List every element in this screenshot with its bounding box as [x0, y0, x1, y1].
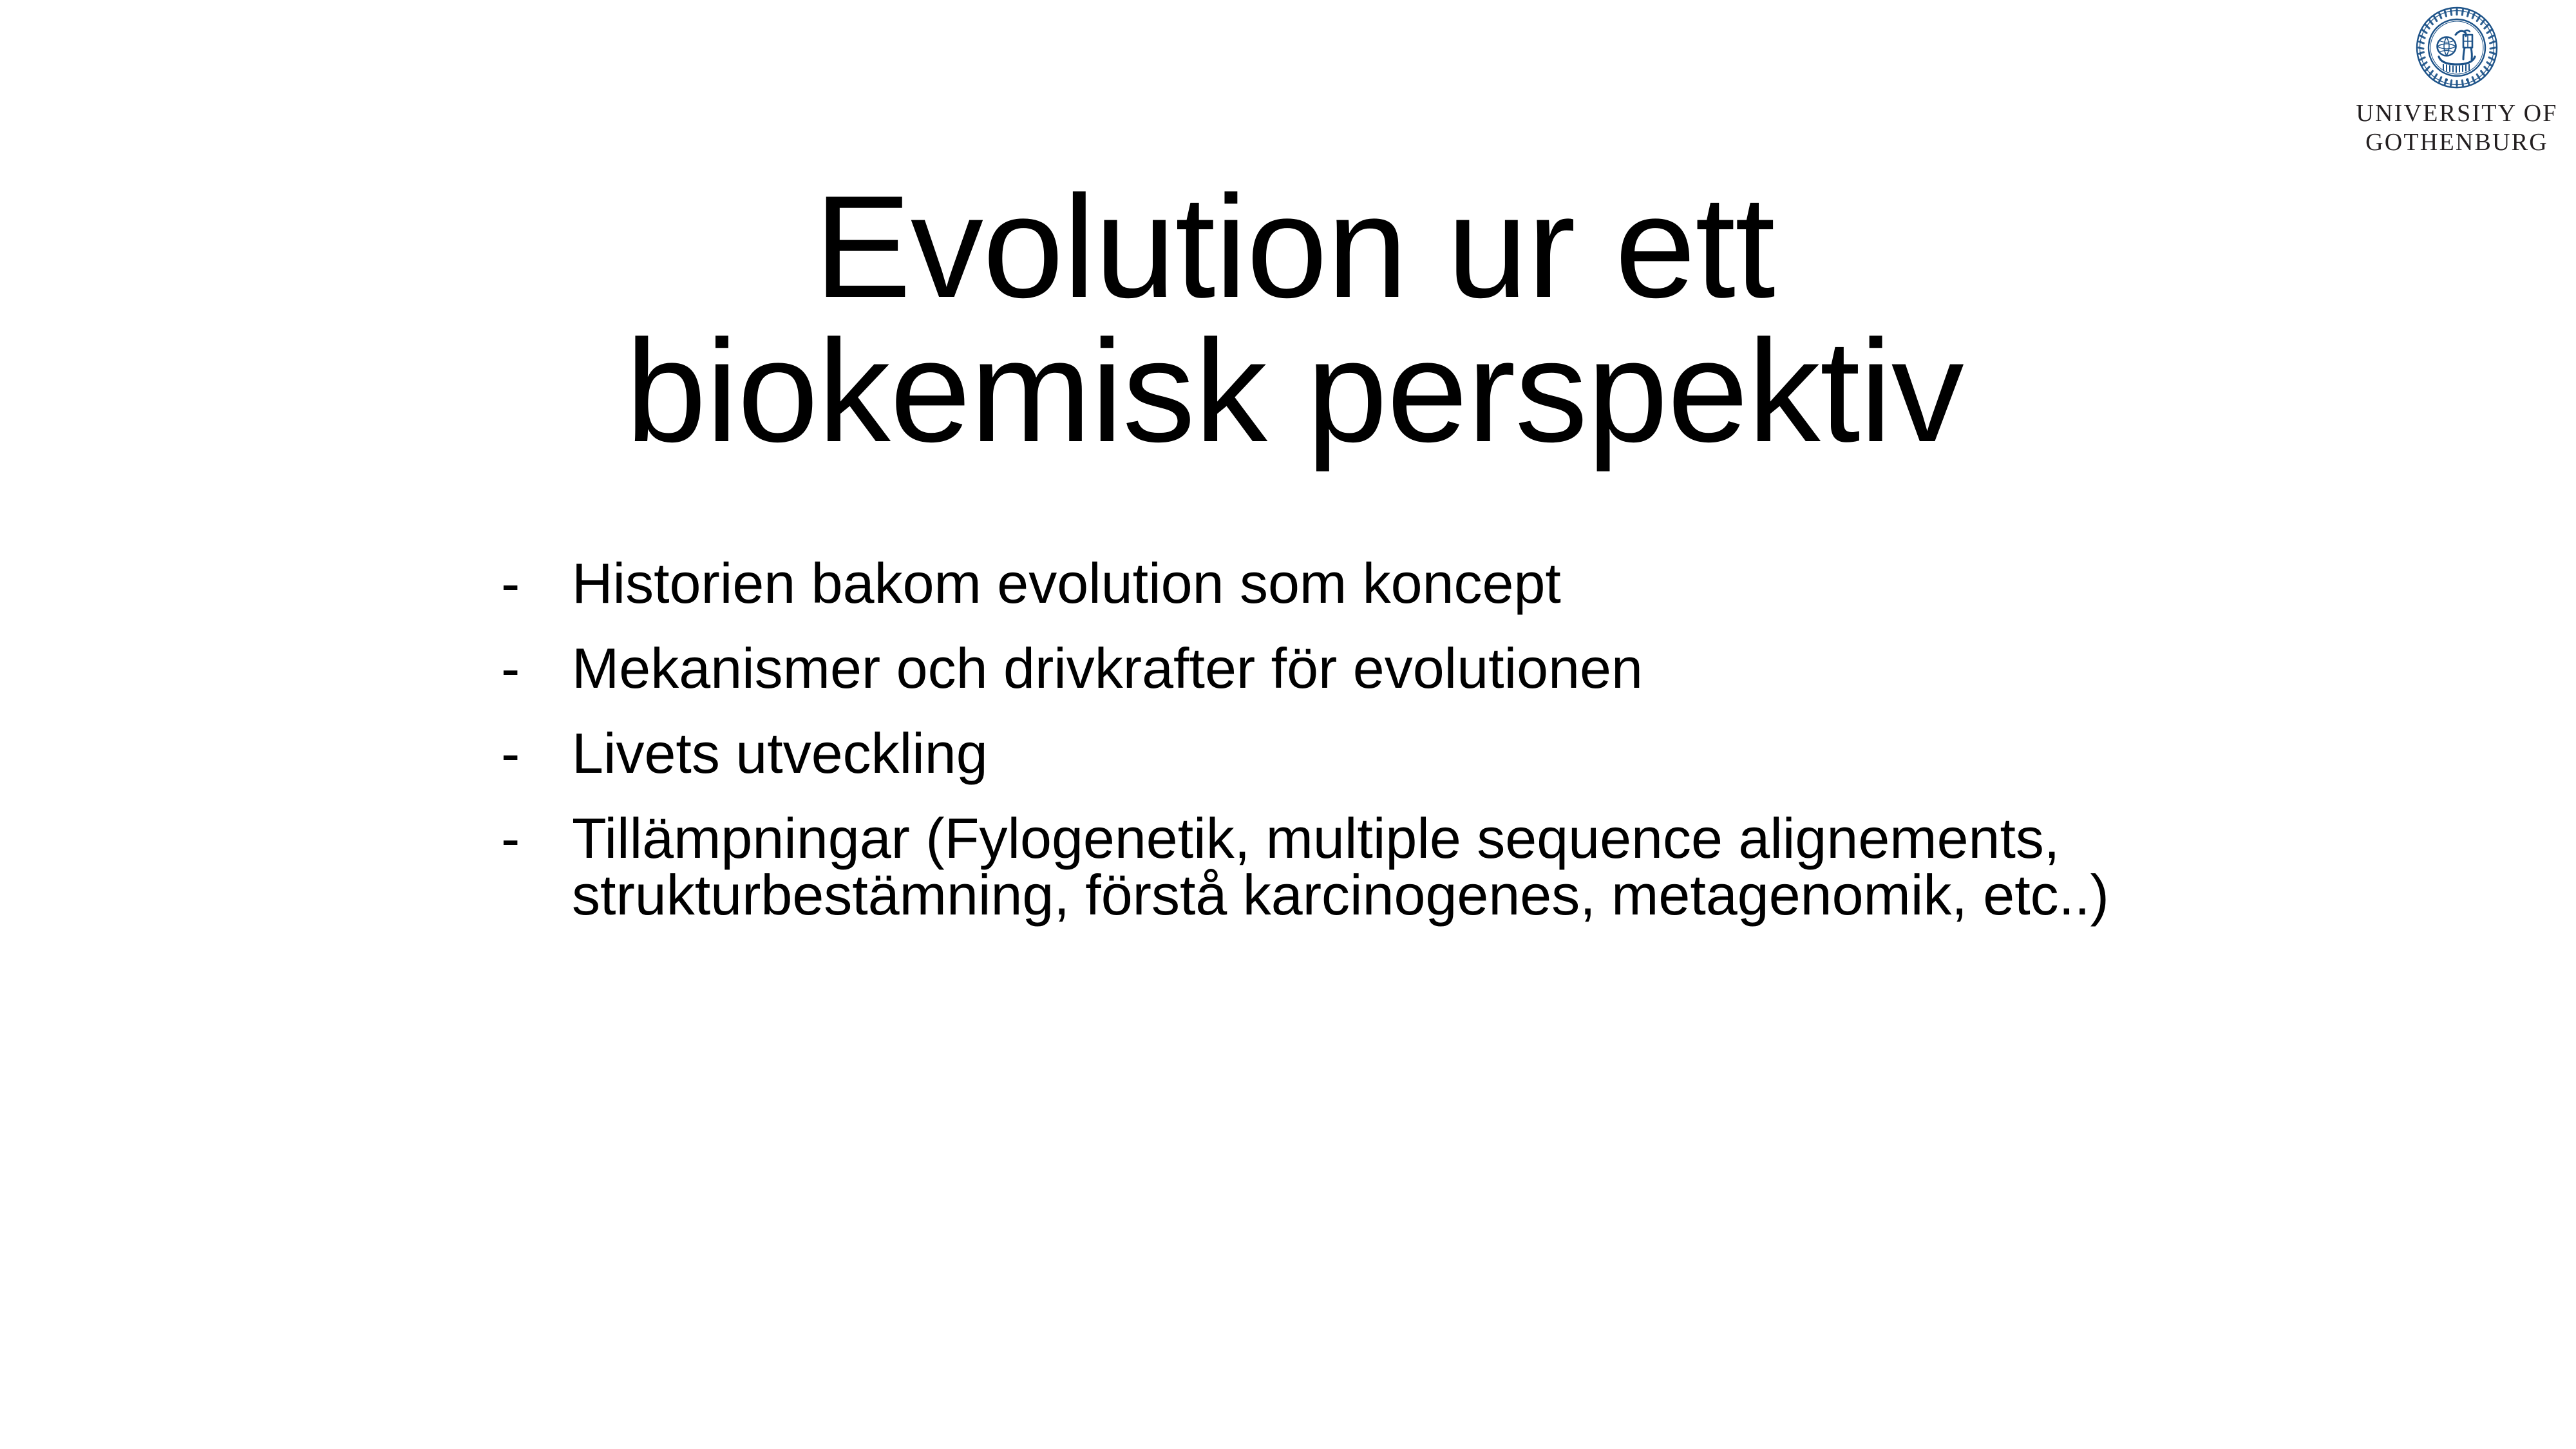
bullet-dash-icon: - [496, 640, 572, 697]
presentation-slide: UNIVERSITY OF GOTHENBURG Evolution ur et… [0, 0, 2576, 1449]
slide-bullet-list: - Historien bakom evolution som koncept … [496, 555, 2428, 923]
logo-wordmark-line-2: GOTHENBURG [2351, 128, 2563, 157]
list-item: - Historien bakom evolution som koncept [496, 555, 2428, 612]
bullet-dash-icon: - [496, 725, 572, 782]
logo-wordmark: UNIVERSITY OF GOTHENBURG [2351, 99, 2563, 157]
bullet-text: Livets utveckling [572, 725, 2233, 782]
bullet-text-line-1: Tillämpningar (Fylogenetik, multiple seq… [572, 810, 2233, 867]
list-item: - Tillämpningar (Fylogenetik, multiple s… [496, 810, 2428, 923]
slide-title-line-2: biokemisk perspektiv [193, 319, 2396, 463]
slide-title-line-1: Evolution ur ett [193, 175, 2396, 319]
university-logo: UNIVERSITY OF GOTHENBURG [2351, 5, 2563, 157]
logo-wordmark-line-1: UNIVERSITY OF [2351, 99, 2563, 128]
list-item: - Livets utveckling [496, 725, 2428, 782]
slide-title: Evolution ur ett biokemisk perspektiv [193, 175, 2396, 462]
bullet-text: Mekanismer och drivkrafter för evolution… [572, 640, 2233, 697]
list-item: - Mekanismer och drivkrafter för evoluti… [496, 640, 2428, 697]
bullet-text-line-2: strukturbestämning, förstå karcinogenes,… [572, 867, 2233, 923]
bullet-dash-icon: - [496, 810, 572, 867]
bullet-text: Tillämpningar (Fylogenetik, multiple seq… [572, 810, 2233, 923]
bullet-text: Historien bakom evolution som koncept [572, 555, 2233, 612]
university-seal-icon [2414, 5, 2499, 90]
bullet-dash-icon: - [496, 555, 572, 612]
